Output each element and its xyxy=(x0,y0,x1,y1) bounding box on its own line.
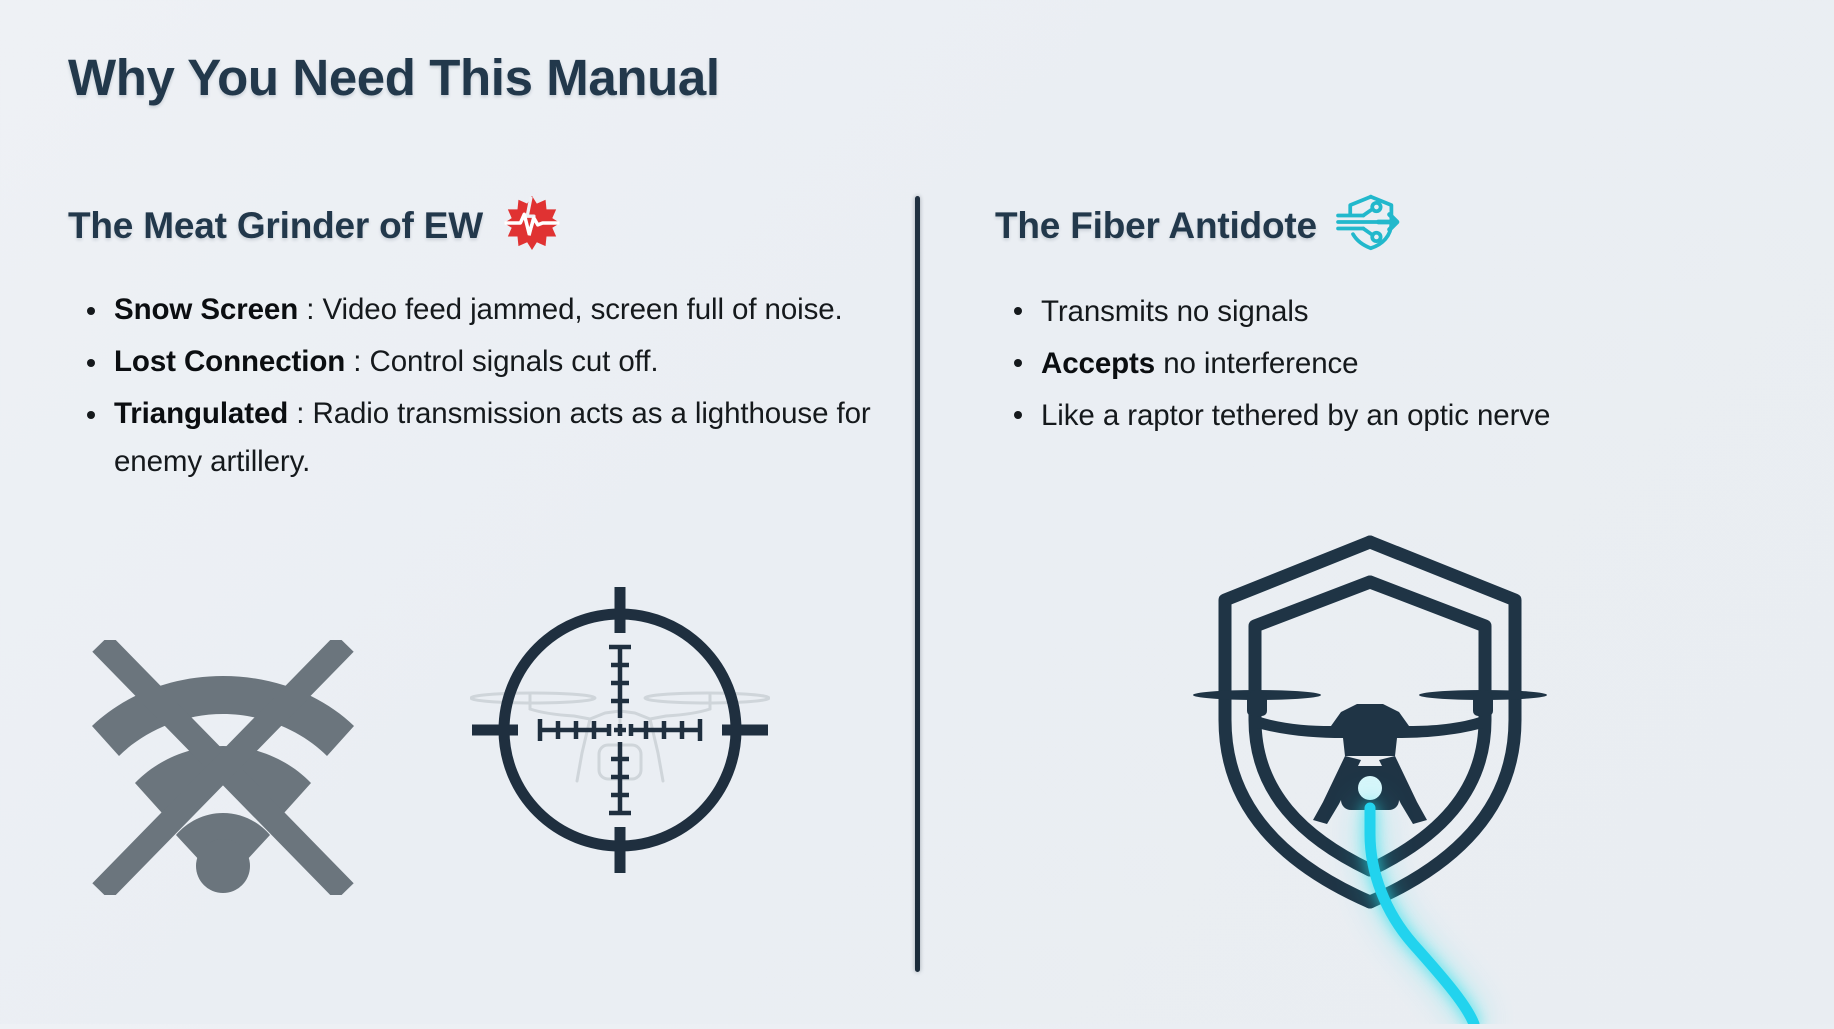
shield-circuit-arrow-icon xyxy=(1335,193,1401,260)
list-item: Like a raptor tethered by an optic nerve xyxy=(995,390,1775,442)
list-item: Accepts no interference xyxy=(995,338,1775,390)
right-bullet-list: Transmits no signals Accepts no interfer… xyxy=(995,286,1775,442)
bullet-label: Snow Screen xyxy=(114,293,298,326)
list-item: Lost Connection : Control signals cut of… xyxy=(68,338,888,386)
vertical-divider xyxy=(915,196,920,972)
list-item: Transmits no signals xyxy=(995,286,1775,338)
left-column: The Meat Grinder of EW Snow Screen : Vid… xyxy=(68,196,888,490)
list-item: Snow Screen : Video feed jammed, screen … xyxy=(68,286,888,334)
bullet-text: no interference xyxy=(1163,347,1358,380)
bullet-text: Control signals cut off. xyxy=(370,345,659,378)
bullet-label: Lost Connection xyxy=(114,345,345,378)
list-item: Triangulated : Radio transmission acts a… xyxy=(68,390,888,486)
right-heading-text: The Fiber Antidote xyxy=(995,205,1317,247)
bullet-text: Like a raptor tethered by an optic nerve xyxy=(1041,399,1550,432)
slide-root: Why You Need This Manual The Meat Grinde… xyxy=(0,0,1834,1024)
right-column: The Fiber Antidote xyxy=(995,196,1775,442)
drone-crosshair-target-icon xyxy=(470,585,770,880)
bullet-text: Transmits no signals xyxy=(1041,295,1308,328)
shield-drone-fiber-tether-icon xyxy=(1185,520,1555,1029)
page-title: Why You Need This Manual xyxy=(68,48,720,107)
wifi-disabled-icon xyxy=(88,640,358,900)
bullet-label: Triangulated xyxy=(114,397,288,430)
left-column-heading: The Meat Grinder of EW xyxy=(68,196,888,256)
bullet-separator xyxy=(1155,347,1163,380)
bullet-separator: : xyxy=(288,397,312,430)
broken-gear-pulse-icon xyxy=(501,193,563,260)
bullet-separator: : xyxy=(298,293,322,326)
left-bullet-list: Snow Screen : Video feed jammed, screen … xyxy=(68,286,888,486)
bullet-label: Accepts xyxy=(1041,347,1155,380)
right-column-heading: The Fiber Antidote xyxy=(995,196,1775,256)
bullet-text: Video feed jammed, screen full of noise. xyxy=(322,293,842,326)
bullet-separator: : xyxy=(345,345,369,378)
left-heading-text: The Meat Grinder of EW xyxy=(68,205,483,247)
